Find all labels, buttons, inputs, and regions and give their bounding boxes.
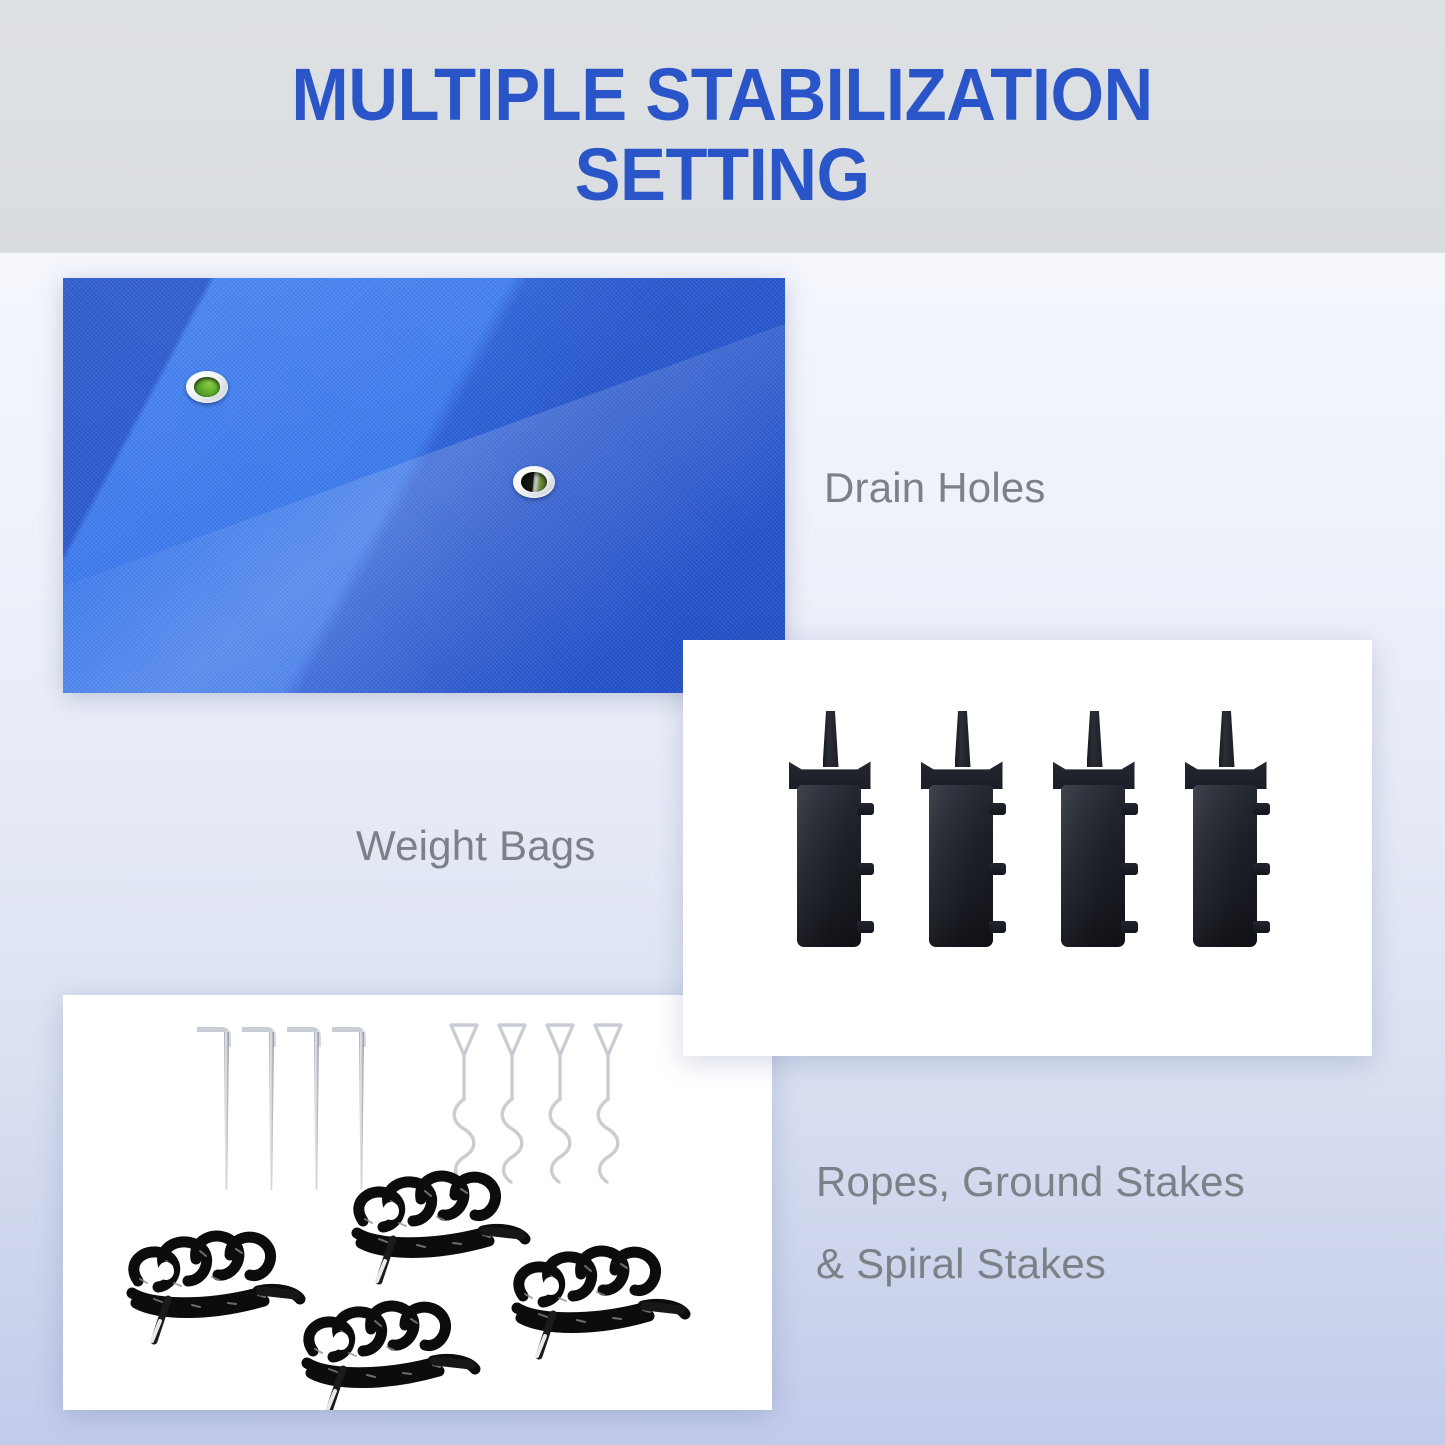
ground-stake <box>242 1020 278 1190</box>
weight-bag-strap <box>1219 711 1235 767</box>
ground-stake-shaft <box>269 1032 274 1190</box>
weight-bag-tab <box>989 863 1006 875</box>
drain-hole-grommet-2 <box>513 466 555 498</box>
weight-bag-tab <box>989 921 1006 933</box>
weight-bag <box>921 711 1003 951</box>
weight-bag-tab <box>857 921 874 933</box>
ground-stake-shaft <box>224 1032 229 1190</box>
weight-bag-body <box>797 785 861 947</box>
rope-bundle <box>493 1210 703 1360</box>
ground-stake-shaft <box>314 1032 319 1190</box>
drain-hole-grommet-1 <box>186 371 228 403</box>
spiral-stake <box>588 1017 628 1197</box>
weight-bag-tab <box>1253 803 1270 815</box>
weight-bag-tab <box>1253 863 1270 875</box>
ropes-stakes-panel <box>63 995 772 1410</box>
weight-bag-body <box>1061 785 1125 947</box>
weight-bag-tab <box>1121 863 1138 875</box>
weight-bag-tab <box>857 803 874 815</box>
title-line-1: MULTIPLE STABILIZATION <box>292 55 1153 134</box>
grommet-ring <box>513 466 555 498</box>
ground-stake <box>197 1020 233 1190</box>
page-title: MULTIPLE STABILIZATION SETTING <box>292 39 1153 213</box>
weight-bag-strap <box>955 711 971 767</box>
weight-bag-tab <box>857 863 874 875</box>
title-line-2: SETTING <box>292 135 1153 214</box>
drain-holes-panel <box>63 278 785 693</box>
ground-stake <box>287 1020 323 1190</box>
caption-weight-bags: Weight Bags <box>356 822 596 870</box>
weight-bag-tab <box>1121 921 1138 933</box>
caption-drain-holes: Drain Holes <box>824 464 1046 512</box>
weight-bag-tab <box>989 803 1006 815</box>
weight-bag-tab <box>1121 803 1138 815</box>
weight-bag-body <box>1193 785 1257 947</box>
caption-ropes-stakes: Ropes, Ground Stakes & Spiral Stakes <box>816 1141 1286 1305</box>
weight-bag-strap <box>1087 711 1103 767</box>
caption-ropes-line-2: & Spiral Stakes <box>816 1223 1286 1305</box>
weight-bag <box>789 711 871 951</box>
fabric-weave-texture <box>63 278 785 693</box>
weight-bag <box>1185 711 1267 951</box>
weight-bag-tab <box>1253 921 1270 933</box>
rope-bundle <box>283 1265 493 1410</box>
weight-bags-panel <box>683 640 1372 1056</box>
header-band: MULTIPLE STABILIZATION SETTING <box>0 0 1445 253</box>
grommet-hole <box>521 472 546 492</box>
grommet-hole <box>194 377 219 397</box>
caption-ropes-line-1: Ropes, Ground Stakes <box>816 1141 1286 1223</box>
weight-bag-strap <box>823 711 839 767</box>
fabric-highlight-sheen <box>63 301 785 693</box>
weight-bag-body <box>929 785 993 947</box>
weight-bags-row <box>683 640 1372 1056</box>
weight-bag <box>1053 711 1135 951</box>
grommet-ring <box>186 371 228 403</box>
spiral-stake <box>540 1017 580 1197</box>
